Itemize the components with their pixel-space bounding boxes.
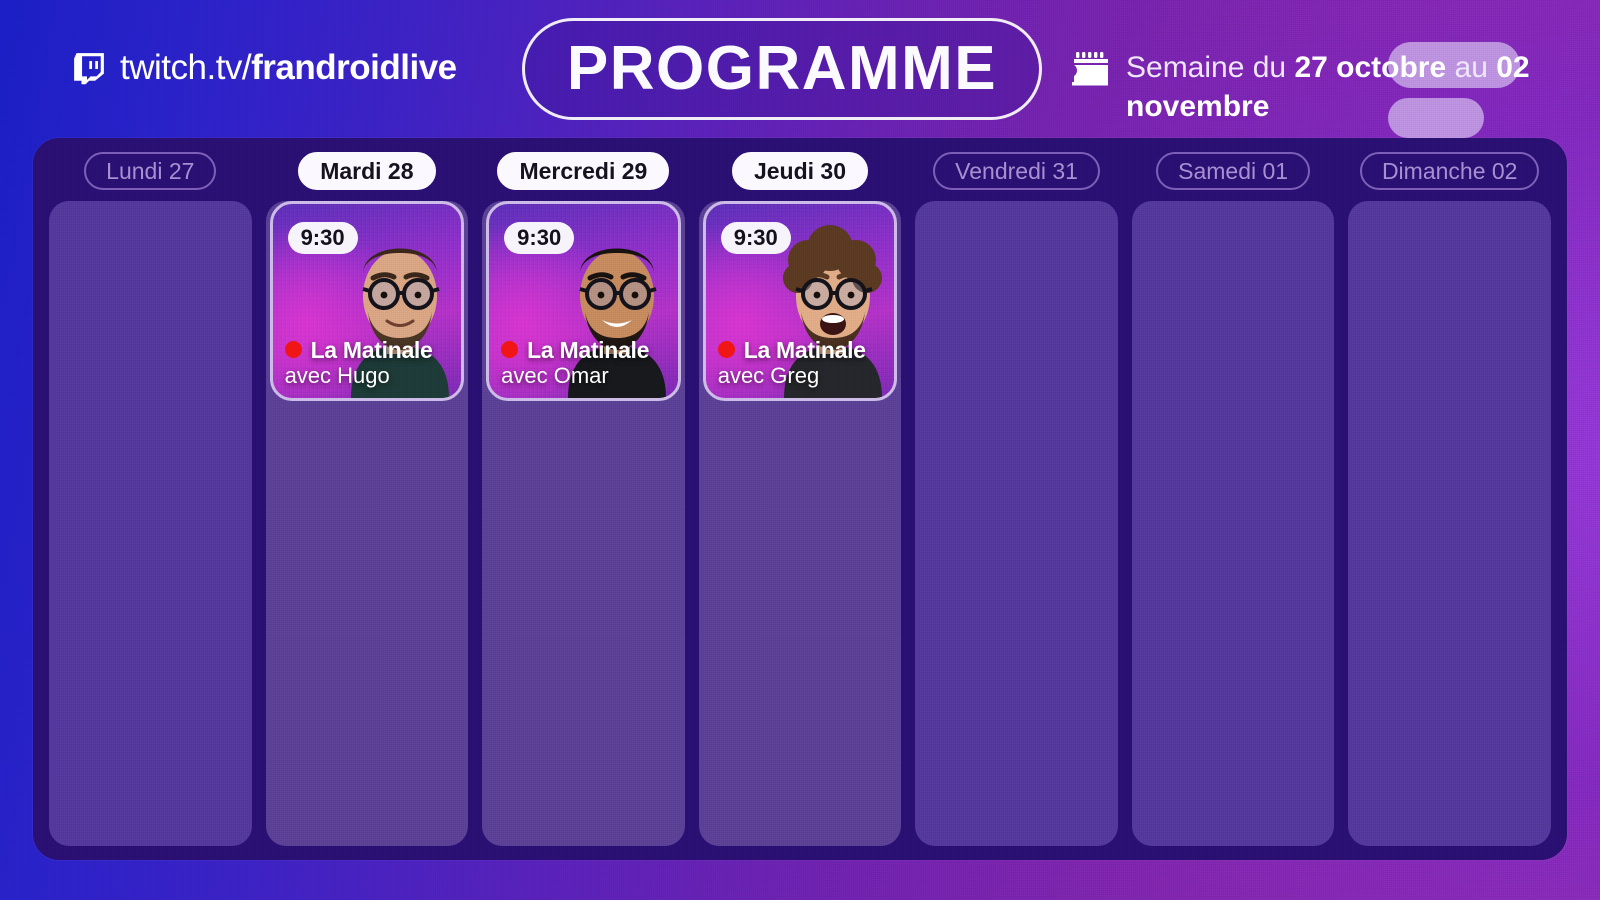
day-header-mercredi-29[interactable]: Mercredi 29	[497, 152, 669, 190]
program-card[interactable]: 9:30La Matinaleavec Hugo	[270, 201, 465, 401]
program-title: La Matinale	[744, 338, 866, 362]
program-title: La Matinale	[527, 338, 649, 362]
day-header-jeudi-30[interactable]: Jeudi 30	[732, 152, 868, 190]
day-slot-area: 9:30La Matinaleavec Omar	[482, 201, 685, 846]
schedule-panel: Lundi 27Mardi 28 9:30La Matinaleavec Hug…	[33, 138, 1567, 860]
live-dot-icon	[501, 341, 518, 358]
day-header-dimanche-02[interactable]: Dimanche 02	[1360, 152, 1540, 190]
twitch-icon	[72, 51, 106, 85]
program-card[interactable]: 9:30La Matinaleavec Greg	[703, 201, 898, 401]
week-start: 27 octobre	[1294, 51, 1446, 84]
program-time: 9:30	[288, 222, 358, 254]
day-header-mardi-28[interactable]: Mardi 28	[298, 152, 435, 190]
week-range-text: Semaine du 27 octobre au 02 novembre	[1126, 48, 1546, 126]
days-grid: Lundi 27Mardi 28 9:30La Matinaleavec Hug…	[49, 152, 1551, 846]
day-slot-area	[915, 201, 1118, 846]
schedule-graphic: twitch.tv/frandroidlive PROGRAMME Semain…	[0, 0, 1600, 900]
day-header-lundi-27[interactable]: Lundi 27	[84, 152, 216, 190]
program-host: avec Greg	[718, 363, 866, 388]
program-time: 9:30	[504, 222, 574, 254]
program-time: 9:30	[721, 222, 791, 254]
program-host: avec Omar	[501, 363, 649, 388]
day-header-samedi-01[interactable]: Samedi 01	[1156, 152, 1310, 190]
brand-prefix: twitch.tv/	[120, 48, 251, 87]
program-caption: La Matinaleavec Greg	[718, 338, 866, 388]
day-slot-area	[1132, 201, 1335, 846]
day-header-vendredi-31[interactable]: Vendredi 31	[933, 152, 1100, 190]
program-title-row: La Matinale	[501, 338, 649, 362]
day-slot-area	[49, 201, 252, 846]
program-card[interactable]: 9:30La Matinaleavec Omar	[486, 201, 681, 401]
day-column: Vendredi 31	[915, 152, 1118, 846]
day-column: Samedi 01	[1132, 152, 1335, 846]
week-prefix: Semaine du	[1126, 51, 1294, 84]
week-range: Semaine du 27 octobre au 02 novembre	[1070, 48, 1546, 126]
day-slot-area	[1348, 201, 1551, 846]
program-caption: La Matinaleavec Hugo	[285, 338, 433, 388]
week-join: au	[1446, 51, 1496, 84]
program-title-row: La Matinale	[285, 338, 433, 362]
header: twitch.tv/frandroidlive PROGRAMME Semain…	[0, 0, 1600, 140]
day-column: Mardi 28 9:30La Matinaleavec Hugo	[266, 152, 469, 846]
programme-title-pill: PROGRAMME	[522, 18, 1042, 120]
twitch-channel-brand[interactable]: twitch.tv/frandroidlive	[72, 50, 457, 85]
live-dot-icon	[718, 341, 735, 358]
brand-text: twitch.tv/frandroidlive	[120, 50, 457, 85]
day-slot-area: 9:30La Matinaleavec Hugo	[266, 201, 469, 846]
page-title: PROGRAMME	[567, 38, 997, 100]
program-host: avec Hugo	[285, 363, 433, 388]
live-dot-icon	[285, 341, 302, 358]
day-slot-area: 9:30La Matinaleavec Greg	[699, 201, 902, 846]
program-title-row: La Matinale	[718, 338, 866, 362]
program-title: La Matinale	[311, 338, 433, 362]
brand-channel: frandroidlive	[251, 48, 456, 87]
day-column: Jeudi 30 9:30La Matinaleavec Greg	[699, 152, 902, 846]
calendar-icon	[1070, 52, 1110, 88]
day-column: Mercredi 29 9:30La Matinaleavec Omar	[482, 152, 685, 846]
day-column: Lundi 27	[49, 152, 252, 846]
program-caption: La Matinaleavec Omar	[501, 338, 649, 388]
day-column: Dimanche 02	[1348, 152, 1551, 846]
